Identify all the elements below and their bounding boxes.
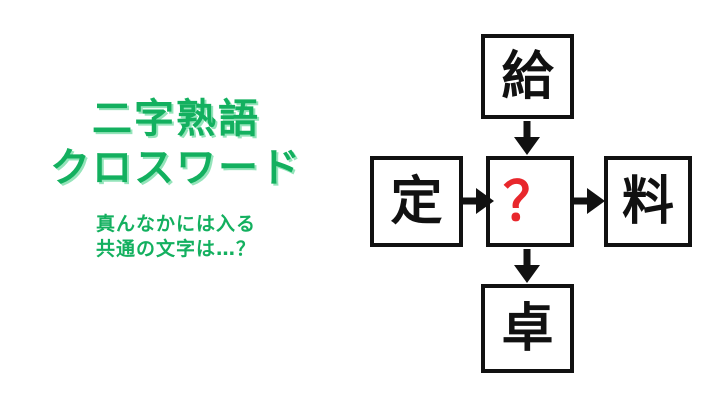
puzzle-slide: 二字熟語 クロスワード 真んなかには入る 共通の文字は…？ 給 定 ？ 料 卓 [0, 0, 720, 405]
puzzle-cell-bottom: 卓 [481, 284, 574, 373]
page-title-line-2: クロスワード [0, 145, 352, 192]
title-block: 二字熟語 クロスワード 真んなかには入る 共通の文字は…？ [0, 96, 352, 261]
page-title-line-1: 二字熟語 [0, 96, 352, 143]
puzzle-cell-left-glyph: 定 [390, 176, 442, 228]
arrow-right-icon-right [571, 188, 605, 214]
question-mark-icon: ？ [503, 175, 557, 229]
arrow-down-icon-bottom [514, 249, 540, 283]
subtitle-line-1: 真んなかには入る [0, 212, 352, 236]
puzzle-cell-left: 定 [370, 156, 463, 247]
arrow-right-icon-left [460, 188, 494, 214]
puzzle-cell-bottom-glyph: 卓 [501, 303, 553, 355]
subtitle-line-2: 共通の文字は…？ [0, 237, 352, 261]
puzzle-cell-top-glyph: 給 [501, 51, 553, 103]
crossword-diagram: 給 定 ？ 料 卓 [360, 0, 720, 405]
puzzle-cell-right: 料 [604, 156, 692, 247]
puzzle-cell-right-glyph: 料 [622, 176, 674, 228]
puzzle-cell-center-answer[interactable]: ？ [486, 156, 574, 247]
subtitle: 真んなかには入る 共通の文字は…？ [0, 212, 352, 261]
puzzle-cell-top: 給 [481, 34, 574, 119]
arrow-down-icon-top [514, 121, 540, 155]
